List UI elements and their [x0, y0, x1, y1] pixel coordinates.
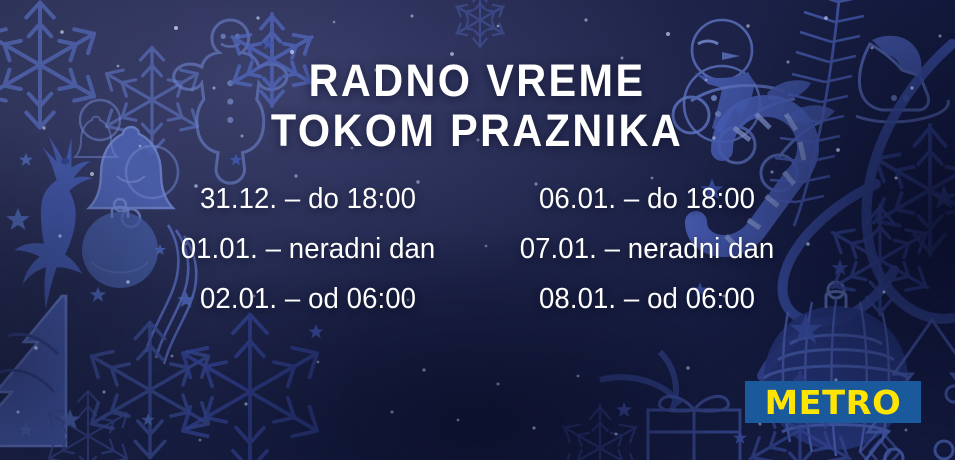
metro-logo[interactable]: METRO — [745, 381, 921, 423]
schedule-row: 07.01. – neradni dan — [519, 234, 774, 264]
metro-logo-text: METRO — [765, 386, 902, 419]
schedule-column-right: 06.01. – do 18:00 07.01. – neradni dan 0… — [513, 184, 781, 314]
page-title: RADNO VREME TOKOM PRAZNIKA — [271, 56, 683, 156]
schedule-row: 08.01. – od 06:00 — [519, 284, 774, 314]
holiday-hours-banner: RADNO VREME TOKOM PRAZNIKA 31.12. – do 1… — [0, 0, 955, 460]
schedule-row: 31.12. – do 18:00 — [181, 184, 436, 214]
headline-line-1: RADNO VREME — [309, 55, 646, 106]
schedule-column-left: 31.12. – do 18:00 01.01. – neradni dan 0… — [174, 184, 442, 314]
schedule-row: 06.01. – do 18:00 — [519, 184, 774, 214]
schedule-row: 01.01. – neradni dan — [181, 234, 436, 264]
schedule-row: 02.01. – od 06:00 — [181, 284, 436, 314]
schedule-columns: 31.12. – do 18:00 01.01. – neradni dan 0… — [174, 184, 780, 314]
headline-line-2: TOKOM PRAZNIKA — [271, 106, 683, 156]
